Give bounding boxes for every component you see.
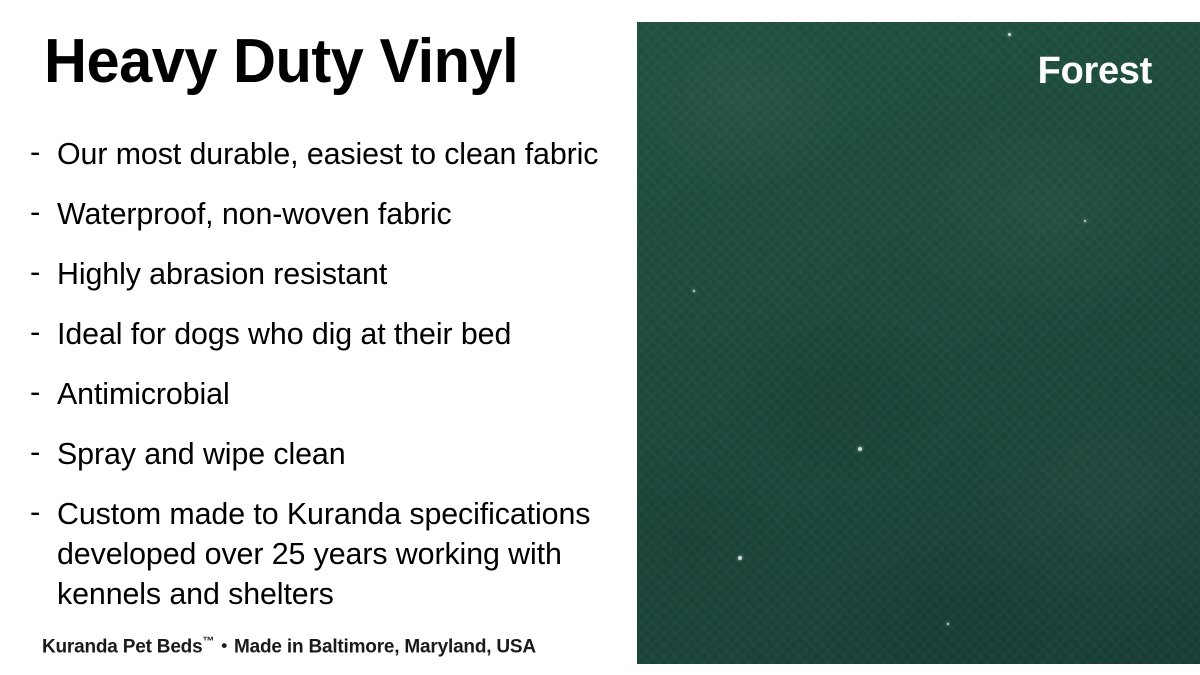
list-item-label: Highly abrasion resistant	[57, 254, 619, 294]
fabric-lint-speck	[1084, 220, 1086, 222]
bullet-marker-icon: -	[30, 494, 57, 529]
list-item-label: Custom made to Kuranda specifications de…	[57, 494, 619, 614]
page-title: Heavy Duty Vinyl	[44, 29, 518, 94]
bullet-marker-icon: -	[30, 374, 57, 409]
list-item-label: Waterproof, non-woven fabric	[57, 194, 619, 234]
list-item: - Highly abrasion resistant	[30, 254, 630, 294]
list-item: - Waterproof, non-woven fabric	[30, 194, 630, 234]
left-text-column: Heavy Duty Vinyl - Our most durable, eas…	[0, 0, 637, 675]
bullet-marker-icon: -	[30, 254, 57, 289]
list-item-label: Our most durable, easiest to clean fabri…	[57, 134, 619, 174]
footer-separator-icon: •	[214, 634, 234, 658]
fabric-color-name: Forest	[1038, 49, 1152, 93]
list-item-label: Spray and wipe clean	[57, 434, 619, 474]
footer-credit: Kuranda Pet Beds™•Made in Baltimore, Mar…	[42, 629, 536, 659]
bullet-marker-icon: -	[30, 434, 57, 469]
list-item: - Spray and wipe clean	[30, 434, 630, 474]
list-item: - Our most durable, easiest to clean fab…	[30, 134, 630, 174]
fabric-lint-speck	[1008, 33, 1011, 36]
footer-origin-text: Made in Baltimore, Maryland, USA	[234, 636, 536, 657]
list-item: - Custom made to Kuranda specifications …	[30, 494, 630, 614]
slide-root: Heavy Duty Vinyl - Our most durable, eas…	[0, 0, 1200, 675]
fabric-lint-speck	[693, 290, 695, 292]
trademark-icon: ™	[202, 634, 214, 648]
bullet-marker-icon: -	[30, 194, 57, 229]
feature-bullet-list: - Our most durable, easiest to clean fab…	[30, 134, 630, 614]
fabric-lint-speck	[947, 623, 949, 625]
fabric-swatch-panel: Forest	[637, 22, 1200, 664]
list-item: - Ideal for dogs who dig at their bed	[30, 314, 630, 354]
bullet-marker-icon: -	[30, 134, 57, 169]
list-item-label: Antimicrobial	[57, 374, 619, 414]
fabric-lint-speck	[738, 556, 742, 560]
fabric-lint-speck	[858, 447, 862, 451]
list-item: - Antimicrobial	[30, 374, 630, 414]
footer-brand-name: Kuranda Pet Beds	[42, 636, 202, 657]
list-item-label: Ideal for dogs who dig at their bed	[57, 314, 619, 354]
bullet-marker-icon: -	[30, 314, 57, 349]
